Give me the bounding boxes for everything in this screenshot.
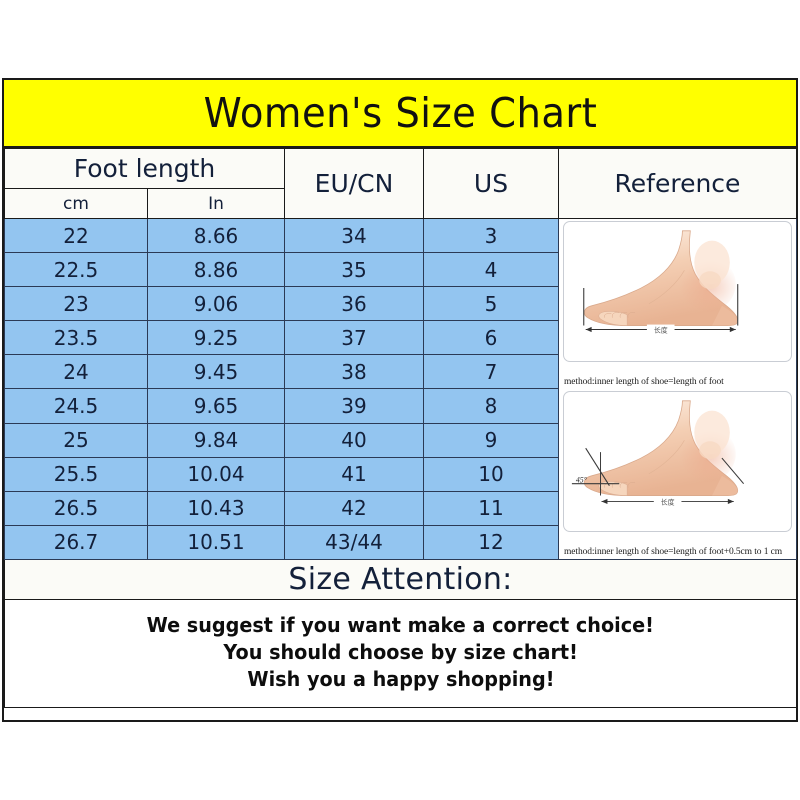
table-row: 228.66343 [5,219,797,253]
cell-cm: 24.5 [5,389,148,423]
cell-eu: 36 [285,287,424,321]
cell-cm: 22 [5,219,148,253]
cell-us: 12 [424,525,559,559]
cell-us: 9 [424,423,559,457]
cell-us: 10 [424,457,559,491]
cell-in: 8.66 [148,219,285,253]
svg-text:45°: 45° [576,476,588,485]
header-eu-cn: EU/CN [285,149,424,219]
size-attention-heading: Size Attention: [5,560,797,600]
cell-cm: 26.7 [5,525,148,559]
cell-cm: 22.5 [5,253,148,287]
cell-in: 9.65 [148,389,285,423]
attention-heading-row: Size Attention: [5,560,797,600]
cell-us: 8 [424,389,559,423]
cell-eu: 38 [285,355,424,389]
size-table: Foot length EU/CN US Reference cm In 228… [4,148,797,708]
cell-us: 3 [424,219,559,253]
cell-cm: 25 [5,423,148,457]
attention-notes-cell: We suggest if you want make a correct ch… [5,600,797,708]
cell-cm: 26.5 [5,491,148,525]
title-banner: Women's Size Chart [4,80,796,148]
cell-eu: 35 [285,253,424,287]
cell-in: 10.51 [148,525,285,559]
svg-text:长度: 长度 [661,497,675,506]
header-cm: cm [5,189,148,219]
cell-us: 11 [424,491,559,525]
foot-illustration-2: 45° 长度 [563,391,792,532]
cell-us: 5 [424,287,559,321]
header-reference: Reference [559,149,797,219]
reference-caption-2: method:inner length of shoe=length of fo… [564,547,782,557]
foot-side-view-diagram: 长度 method:inner length of shoe=length of… [559,219,796,389]
cell-us: 7 [424,355,559,389]
cell-cm: 23 [5,287,148,321]
cell-eu: 34 [285,219,424,253]
attention-line: We suggest if you want make a correct ch… [147,615,654,636]
cell-in: 9.25 [148,321,285,355]
cell-eu: 37 [285,321,424,355]
table-body: 228.66343 [5,219,797,708]
cell-us: 4 [424,253,559,287]
header-in: In [148,189,285,219]
cell-eu: 43/44 [285,525,424,559]
size-table-wrap: Foot length EU/CN US Reference cm In 228… [4,148,796,708]
cell-eu: 41 [285,457,424,491]
cell-cm: 23.5 [5,321,148,355]
header-foot-length: Foot length [5,149,285,189]
cell-in: 10.43 [148,491,285,525]
cell-in: 10.04 [148,457,285,491]
cell-in: 9.45 [148,355,285,389]
attention-line: Wish you a happy shopping! [247,669,554,690]
cell-cm: 25.5 [5,457,148,491]
foot-side-view-angle-diagram: 45° 长度 method:inner length of shoe=lengt… [559,389,796,559]
reference-caption-1: method:inner length of shoe=length of fo… [564,377,724,387]
table-header: Foot length EU/CN US Reference cm In [5,149,797,219]
header-row-group: Foot length EU/CN US Reference [5,149,797,189]
foot-illustration-1: 长度 [563,221,792,362]
cell-eu: 42 [285,491,424,525]
header-us: US [424,149,559,219]
svg-text:长度: 长度 [654,325,668,334]
reference-cell: 长度 method:inner length of shoe=length of… [559,219,797,560]
cell-in: 9.84 [148,423,285,457]
attention-line: You should choose by size chart! [223,642,577,663]
cell-eu: 39 [285,389,424,423]
cell-in: 9.06 [148,287,285,321]
page-title: Women's Size Chart [203,93,597,134]
size-chart-image: Women's Size Chart Foot length EU/CN US [0,0,800,800]
cell-eu: 40 [285,423,424,457]
cell-us: 6 [424,321,559,355]
chart-frame: Women's Size Chart Foot length EU/CN US [2,78,798,722]
cell-in: 8.86 [148,253,285,287]
cell-cm: 24 [5,355,148,389]
attention-notes-row: We suggest if you want make a correct ch… [5,600,797,708]
